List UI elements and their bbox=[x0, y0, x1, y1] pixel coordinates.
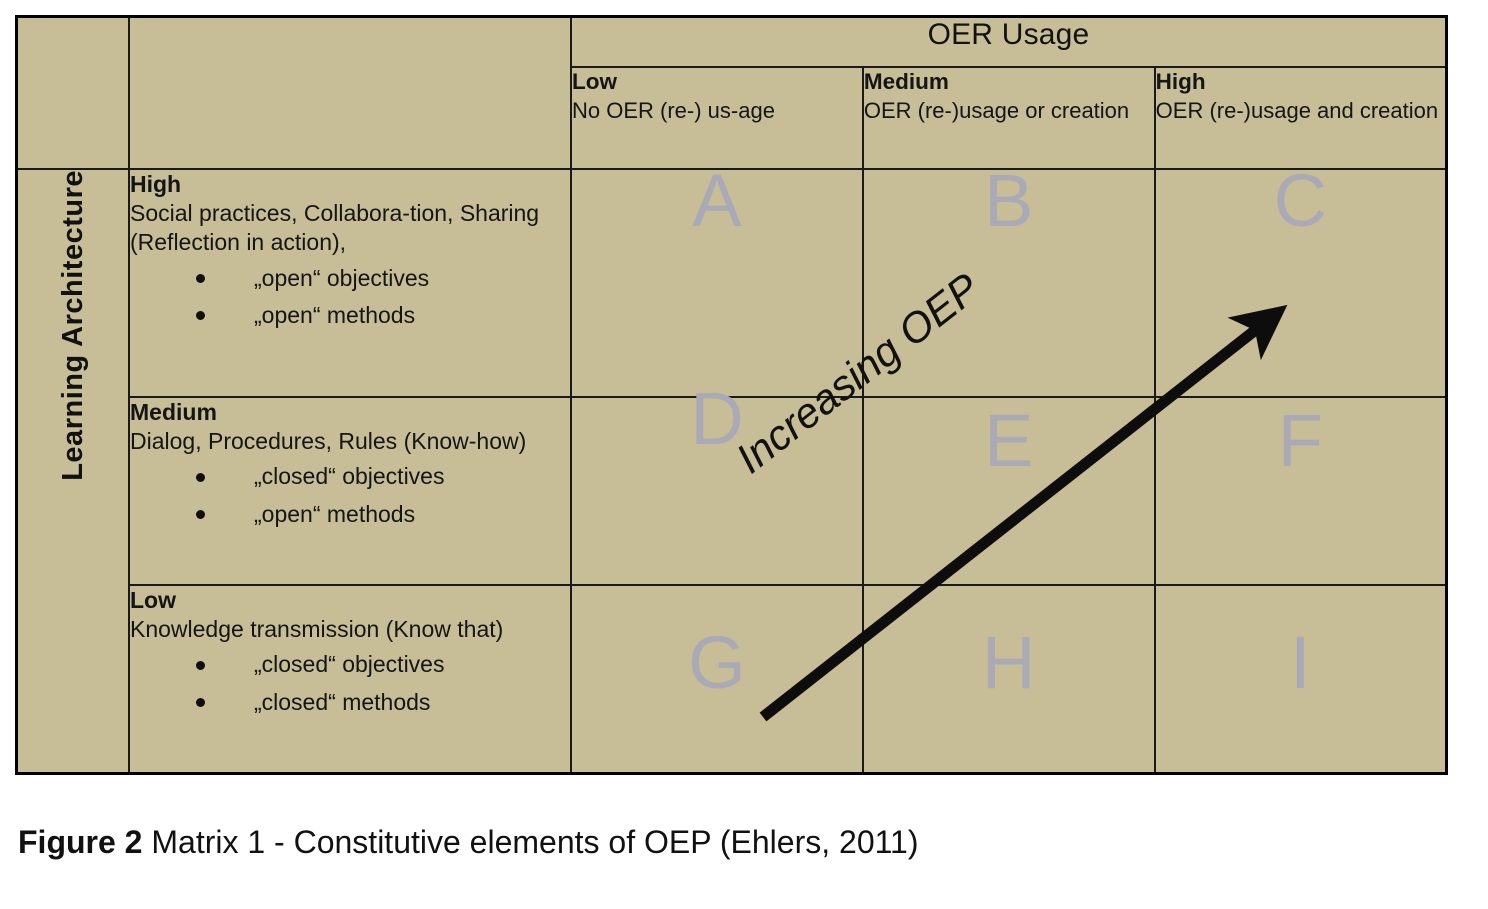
table-row: Learning Architecture High Social practi… bbox=[17, 169, 1447, 397]
column-header-medium-title: Medium bbox=[864, 68, 1154, 97]
column-header-medium-desc: OER (re-)usage or creation bbox=[864, 97, 1154, 125]
matrix-cell-A: A bbox=[571, 169, 863, 397]
row-header-high-title: High bbox=[130, 170, 570, 199]
figure-container: OER Usage Low No OER (re-) us-age Medium… bbox=[0, 0, 1488, 904]
column-header-high-desc: OER (re-)usage and creation bbox=[1156, 97, 1445, 125]
matrix-cell-I: I bbox=[1155, 585, 1447, 774]
matrix-cell-G: G bbox=[571, 585, 863, 774]
row-axis-title-cell: Learning Architecture bbox=[17, 169, 130, 774]
column-header-high-title: High bbox=[1156, 68, 1445, 97]
row-header-low-desc: Knowledge transmission (Know that) bbox=[130, 615, 570, 644]
matrix-cell-label: B bbox=[864, 164, 1154, 238]
matrix-cell-D: D bbox=[571, 397, 863, 585]
list-item: „open“ methods bbox=[196, 297, 570, 334]
matrix-cell-label: E bbox=[864, 404, 1154, 478]
column-header-low-desc: No OER (re-) us-age bbox=[572, 97, 862, 125]
matrix-cell-label: G bbox=[572, 626, 862, 700]
figure-caption-text: Matrix 1 - Constitutive elements of OEP … bbox=[142, 824, 918, 860]
matrix-cell-B: B bbox=[863, 169, 1155, 397]
matrix-cell-label: H bbox=[864, 626, 1154, 700]
row-header-medium-bullets: „closed“ objectives „open“ methods bbox=[130, 458, 570, 533]
row-header-high-desc: Social practices, Collabora-tion, Sharin… bbox=[130, 199, 570, 257]
list-item: „closed“ objectives bbox=[196, 646, 570, 683]
matrix-cell-label: F bbox=[1156, 404, 1445, 478]
column-axis-title: OER Usage bbox=[571, 17, 1447, 68]
column-header-medium: Medium OER (re-)usage or creation bbox=[863, 67, 1155, 169]
matrix-table-wrapper: OER Usage Low No OER (re-) us-age Medium… bbox=[15, 15, 1448, 775]
column-header-low-title: Low bbox=[572, 68, 862, 97]
matrix-cell-label: I bbox=[1156, 626, 1445, 700]
matrix-cell-E: E bbox=[863, 397, 1155, 585]
column-header-low: Low No OER (re-) us-age bbox=[571, 67, 863, 169]
row-header-low-bullets: „closed“ objectives „closed“ methods bbox=[130, 646, 570, 721]
list-item: „closed“ methods bbox=[196, 684, 570, 721]
matrix-cell-label: D bbox=[572, 382, 862, 456]
matrix-cell-F: F bbox=[1155, 397, 1447, 585]
corner-blank-cell-axis bbox=[17, 17, 130, 170]
matrix-cell-C: C bbox=[1155, 169, 1447, 397]
matrix-cell-label: C bbox=[1156, 164, 1445, 238]
row-header-high: High Social practices, Collabora-tion, S… bbox=[129, 169, 571, 397]
row-header-medium-title: Medium bbox=[130, 398, 570, 427]
row-header-low: Low Knowledge transmission (Know that) „… bbox=[129, 585, 571, 774]
matrix-cell-H: H bbox=[863, 585, 1155, 774]
row-header-high-bullets: „open“ objectives „open“ methods bbox=[130, 260, 570, 335]
row-header-low-title: Low bbox=[130, 586, 570, 615]
matrix-cell-label: A bbox=[572, 164, 862, 238]
row-header-medium-desc: Dialog, Procedures, Rules (Know-how) bbox=[130, 427, 570, 456]
column-header-high: High OER (re-)usage and creation bbox=[1155, 67, 1447, 169]
list-item: „open“ objectives bbox=[196, 260, 570, 297]
figure-caption-label: Figure 2 bbox=[18, 824, 142, 860]
row-axis-title: Learning Architecture bbox=[57, 170, 90, 481]
corner-blank-cell-desc bbox=[129, 17, 571, 170]
list-item: „closed“ objectives bbox=[196, 458, 570, 495]
list-item: „open“ methods bbox=[196, 496, 570, 533]
table-header-row-title: OER Usage bbox=[17, 17, 1447, 68]
row-header-medium: Medium Dialog, Procedures, Rules (Know-h… bbox=[129, 397, 571, 585]
oep-matrix-table: OER Usage Low No OER (re-) us-age Medium… bbox=[15, 15, 1448, 775]
table-row: Low Knowledge transmission (Know that) „… bbox=[17, 585, 1447, 774]
header-divider-gap bbox=[97, 184, 121, 189]
table-row: Medium Dialog, Procedures, Rules (Know-h… bbox=[17, 397, 1447, 585]
figure-caption: Figure 2 Matrix 1 - Constitutive element… bbox=[18, 824, 918, 861]
